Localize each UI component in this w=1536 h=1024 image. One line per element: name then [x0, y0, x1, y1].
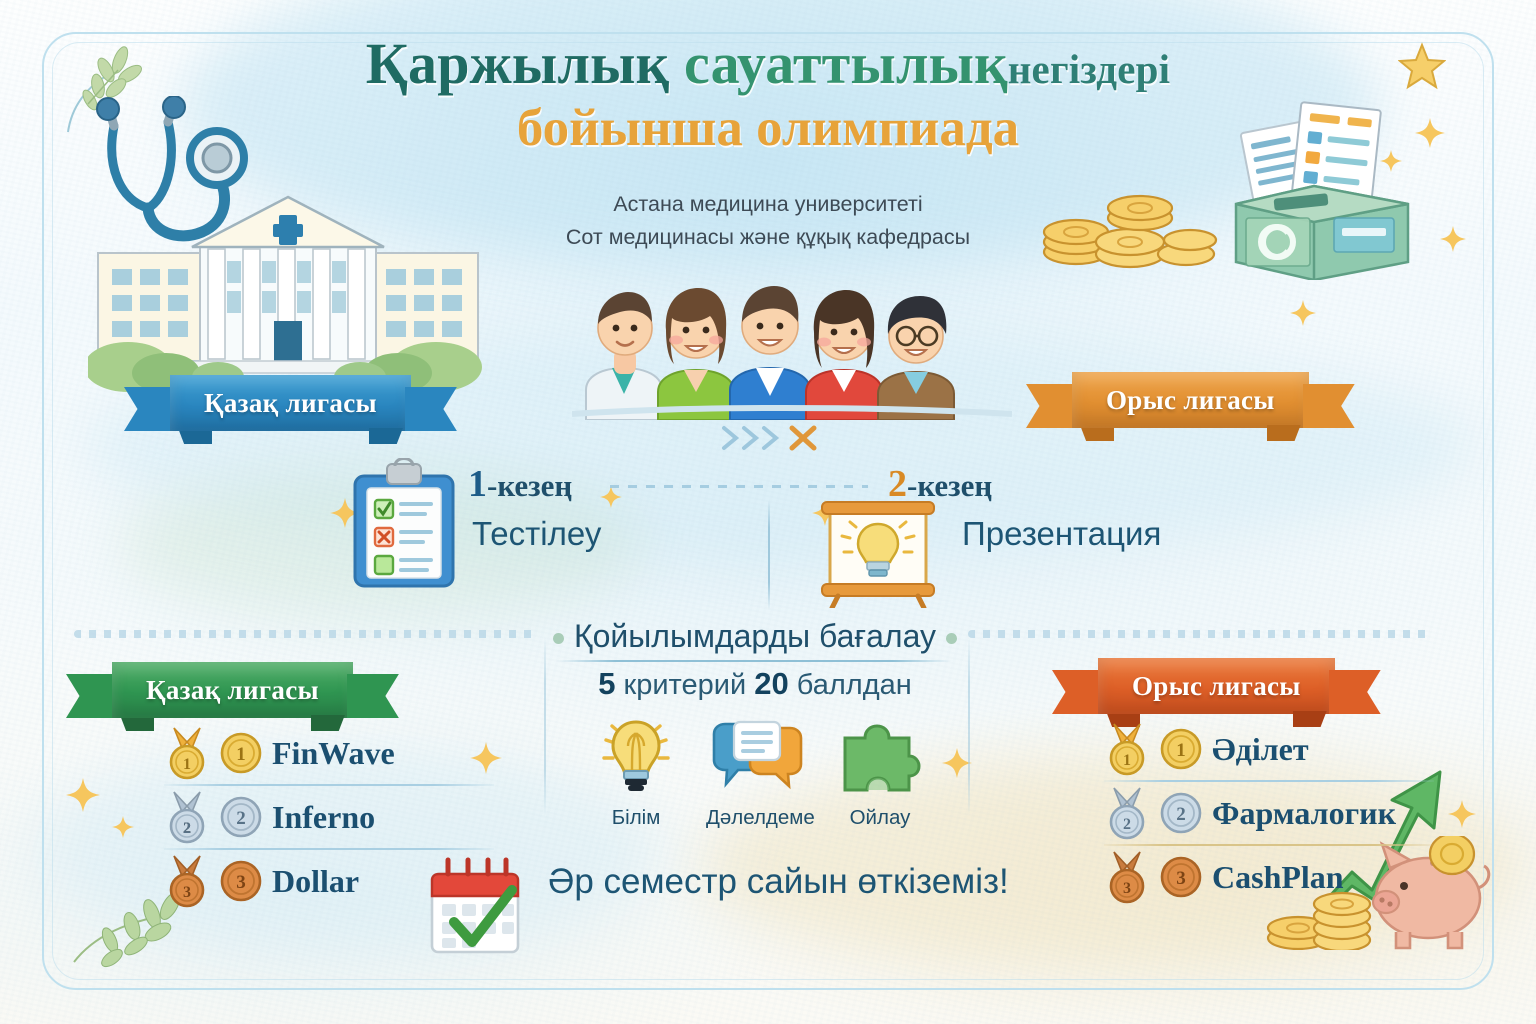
sparkle-icon [112, 816, 134, 838]
criteria-count: 5 [598, 666, 615, 701]
eval-divider-left [544, 636, 546, 816]
eval-divider-right [968, 636, 970, 816]
gold-medal-icon: 1 [164, 726, 210, 780]
sparkle-icon [1290, 300, 1316, 326]
speech-bubbles-icon [710, 716, 806, 794]
place-coin-icon: 2 [219, 795, 263, 839]
bronze-medal-icon: 3 [1104, 850, 1150, 904]
title-line-2: бойынша олимпиада [0, 99, 1536, 157]
svg-text:1: 1 [183, 756, 191, 773]
title-line-1: Қаржылық сауаттылықнегіздері [0, 34, 1536, 95]
stage-2-label: 2-кезең [888, 462, 992, 506]
result-row: 2 2 Фармалогик [1104, 782, 1434, 844]
progress-arrows-icon [718, 418, 828, 458]
evaluation-title-text: Қойылымдарды бағалау [574, 618, 936, 654]
results-banner-russian[interactable]: Орыс лигасы [1098, 658, 1335, 714]
poster-title-block: Қаржылық сауаттылықнегіздері бойынша оли… [0, 34, 1536, 157]
criteria-row: Білім Дәлелдеме Ойлау [584, 716, 932, 830]
team-name: Әділет [1212, 731, 1309, 768]
points-value: 20 [754, 666, 788, 701]
students-group-icon [572, 268, 1012, 420]
criterion-knowledge: Білім [584, 716, 688, 830]
place-coin-icon: 1 [219, 731, 263, 775]
poster-canvas: Қаржылық сауаттылықнегіздері бойынша оли… [0, 0, 1536, 1024]
evaluation-underline [556, 660, 952, 662]
svg-text:3: 3 [183, 884, 191, 901]
league-banner-russian-label: Орыс лигасы [1072, 372, 1309, 428]
evaluation-title: Қойылымдарды бағалау [520, 618, 990, 655]
criterion-thinking: Ойлау [828, 716, 932, 830]
subtitle-block: Астана медицина университеті Сот медицин… [0, 188, 1536, 255]
svg-text:1: 1 [1176, 740, 1186, 761]
place-coin-icon: 1 [1159, 727, 1203, 771]
silver-medal-icon: 2 2 [164, 790, 210, 844]
stage-1-name: Тестілеу [472, 515, 601, 553]
subtitle-department: Сот медицинасы және құқық кафедрасы [0, 221, 1536, 254]
section-dot-divider-left [74, 630, 536, 638]
result-row: 1 1 FinWave [164, 722, 494, 784]
subtitle-university: Астана медицина университеті [0, 188, 1536, 221]
league-banner-russian[interactable]: Орыс лигасы [1072, 372, 1309, 428]
team-name: CashPlan [1212, 859, 1344, 896]
sparkle-icon [66, 778, 100, 812]
stage-1-label: 1-кезең [468, 462, 572, 506]
section-dot-divider-right [968, 630, 1430, 638]
ribbon-tail-left [66, 674, 118, 718]
evaluation-dot-left [553, 633, 564, 644]
sparkle-icon [600, 486, 622, 508]
team-name: Dollar [272, 863, 359, 900]
criterion-knowledge-label: Білім [584, 806, 688, 830]
stage-1-number: 1 [468, 463, 487, 505]
evaluation-subtitle: 5 критерий 20 баллдан [520, 666, 990, 702]
stage-2-suffix: -кезең [907, 468, 992, 503]
criteria-word: критерий [624, 669, 747, 701]
team-name: Фармалогик [1212, 795, 1396, 832]
league-banner-kazakh[interactable]: Қазақ лигасы [170, 375, 411, 431]
puzzle-piece-icon [837, 716, 923, 794]
evaluation-dot-right [946, 633, 957, 644]
svg-text:3: 3 [1123, 880, 1131, 897]
lightbulb-icon [598, 716, 674, 794]
clipboard-checklist-icon [345, 458, 463, 590]
stage-vertical-divider [768, 500, 770, 610]
silver-medal-icon: 2 [1104, 786, 1150, 840]
league-banner-kazakh-label: Қазақ лигасы [170, 375, 411, 431]
easel-lightbulb-icon [812, 498, 944, 608]
result-row: 2 2 2 Inferno [164, 786, 494, 848]
result-row: 3 3 Dollar [164, 850, 494, 912]
gold-medal-icon: 1 [1104, 722, 1150, 776]
place-coin-icon: 3 [219, 859, 263, 903]
svg-text:1: 1 [236, 744, 246, 765]
result-row: 3 3 CashPlan [1104, 846, 1434, 908]
svg-text:3: 3 [236, 872, 246, 893]
ribbon-tail-right [1329, 670, 1381, 714]
stage-1-suffix: -кезең [487, 468, 572, 503]
team-name: FinWave [272, 735, 395, 772]
stage-2-name: Презентация [962, 515, 1161, 553]
ribbon-tail-left [1052, 670, 1104, 714]
title-word-1: Қаржылық [366, 31, 670, 96]
svg-text:2: 2 [1123, 816, 1131, 833]
criterion-argument-label: Дәлелдеме [706, 806, 810, 830]
stage-dash-line [610, 485, 868, 488]
results-list-russian: 1 1 Әділет 2 2 Фармалогик [1104, 718, 1434, 908]
svg-text:2: 2 [1176, 804, 1186, 825]
place-coin-icon: 3 [1159, 855, 1203, 899]
results-banner-kazakh-label: Қазақ лигасы [112, 662, 353, 718]
svg-text:2: 2 [183, 820, 191, 837]
svg-text:2: 2 [236, 808, 246, 829]
place-coin-icon: 2 [1159, 791, 1203, 835]
result-row: 1 1 Әділет [1104, 718, 1434, 780]
svg-text:1: 1 [1123, 752, 1131, 769]
results-banner-kazakh[interactable]: Қазақ лигасы [112, 662, 353, 718]
svg-text:3: 3 [1176, 868, 1186, 889]
sparkle-icon [1448, 800, 1476, 828]
footer-text: Әр семестр сайын өткіземіз! [548, 862, 1009, 902]
results-banner-russian-label: Орыс лигасы [1098, 658, 1335, 714]
bronze-medal-icon: 3 [164, 854, 210, 908]
criterion-thinking-label: Ойлау [828, 806, 932, 830]
title-word-3: негіздері [1008, 46, 1171, 92]
results-list-kazakh: 1 1 FinWave 2 2 2 [164, 722, 494, 912]
points-word: баллдан [797, 669, 912, 701]
stage-2-number: 2 [888, 463, 907, 505]
ribbon-tail-right [347, 674, 399, 718]
criterion-argument: Дәлелдеме [706, 716, 810, 830]
team-name: Inferno [272, 799, 375, 836]
title-word-2: сауаттылық [684, 31, 1008, 96]
